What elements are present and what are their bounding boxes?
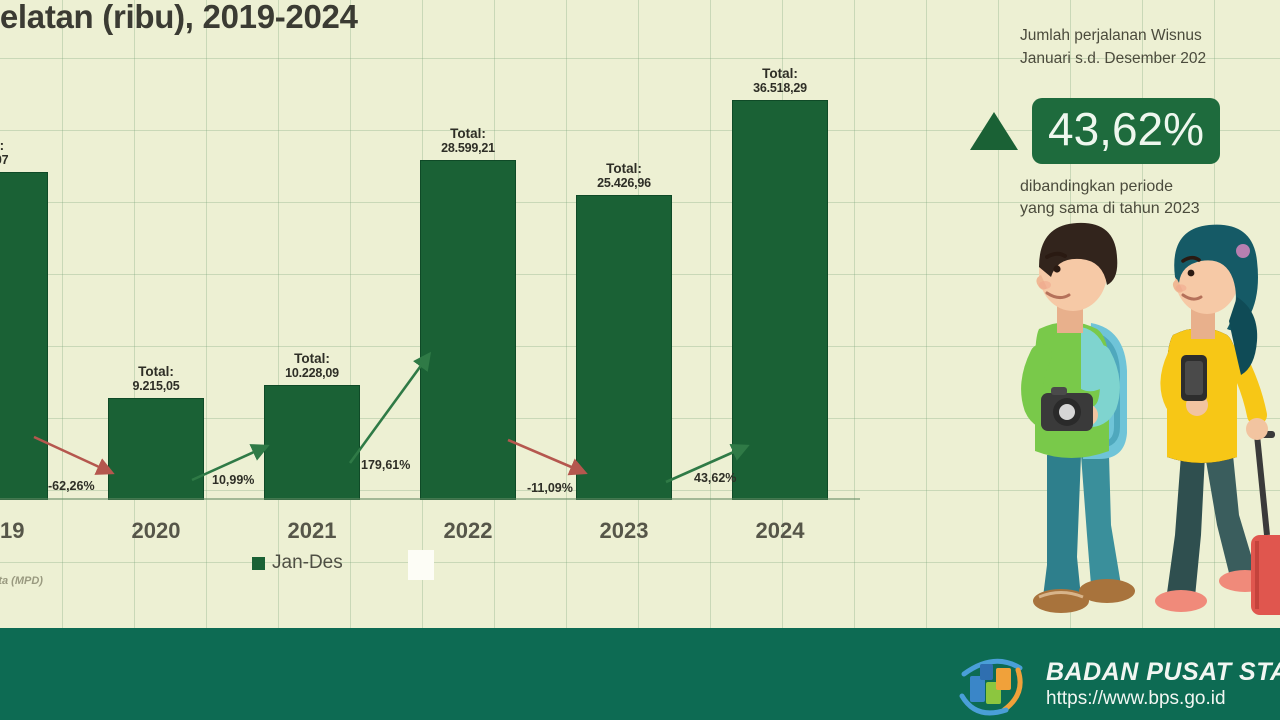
axis-year-2019: 2019 [0, 518, 55, 544]
axis-year-2024: 2024 [725, 518, 835, 544]
pct-change-2023-2024: 43,62% [694, 471, 736, 485]
source-footnote: r Positioning Data (MPD) [0, 575, 43, 587]
female-traveler-with-suitcase-icon [1155, 225, 1280, 615]
agency-name: BADAN PUSAT STATIS [1046, 658, 1280, 687]
growth-badge: 43,62% [1032, 98, 1220, 164]
agency-url[interactable]: https://www.bps.go.id [1046, 688, 1280, 710]
pct-change-2020-2021: 10,99% [212, 473, 254, 487]
legend-blank-box [408, 550, 434, 580]
summary-panel-header: Jumlah perjalanan Wisnus Januari s.d. De… [1020, 24, 1280, 70]
legend-label: Jan-Des [272, 552, 343, 574]
axis-year-2023: 2023 [569, 518, 679, 544]
pct-change-2022-2023: -11,09% [527, 481, 573, 495]
footer-text-block: BADAN PUSAT STATIS https://www.bps.go.id [1046, 658, 1280, 710]
triangle-up-icon [970, 112, 1018, 150]
pct-change-2021-2022: 179,61% [361, 458, 410, 472]
bps-logo-icon [952, 648, 1030, 720]
axis-year-2021: 2021 [257, 518, 367, 544]
arrow-2019-2020 [34, 437, 110, 472]
pct-change-2019-2020: -62,26% [48, 479, 95, 493]
arrow-2022-2023 [508, 440, 583, 472]
male-traveler-with-camera-icon [1032, 223, 1135, 613]
axis-year-2022: 2022 [413, 518, 523, 544]
growth-badge-row: 43,62% [970, 98, 1280, 164]
panel-sub-line-1: dibandingkan periode [1020, 176, 1280, 198]
arrow-2021-2022 [350, 356, 428, 463]
axis-year-2020: 2020 [101, 518, 211, 544]
footer-content: BADAN PUSAT STATIS https://www.bps.go.id [952, 648, 1280, 720]
chart-legend: Jan-Des [252, 552, 343, 574]
travelers-illustration [995, 205, 1280, 625]
panel-line-2: Januari s.d. Desember 202 [1020, 47, 1280, 70]
legend-swatch-icon [252, 557, 265, 570]
panel-line-1: Jumlah perjalanan Wisnus [1020, 24, 1280, 47]
